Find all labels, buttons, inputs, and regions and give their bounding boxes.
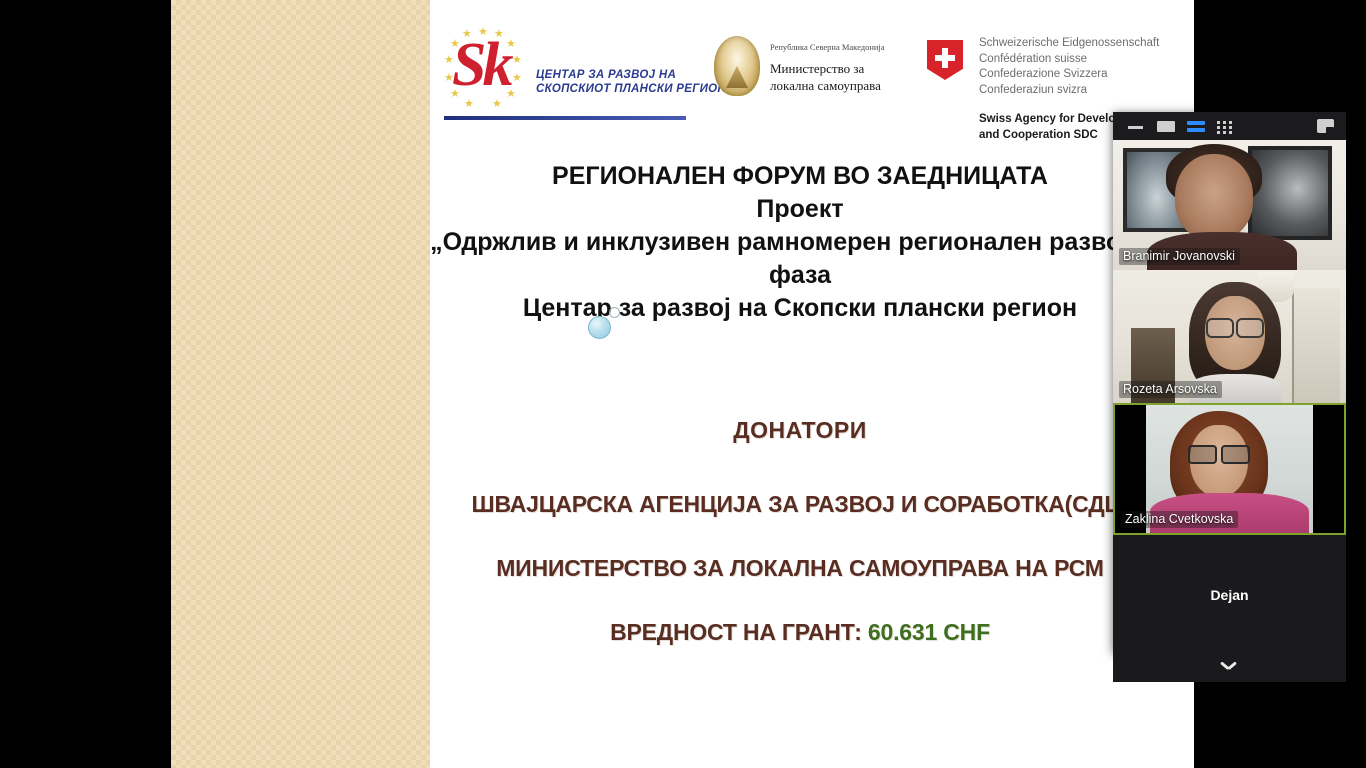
slide-title-line-1: РЕГИОНАЛЕН ФОРУМ ВО ЗАЕДНИЦАТА [430, 160, 1170, 193]
grant-value-row: ВРЕДНОСТ НА ГРАНТ: 60.631 CHF [430, 617, 1170, 647]
slide-title-line-2: Проект [430, 193, 1170, 226]
participant-head [1175, 154, 1253, 240]
logo-ministry-local-self-government: Република Северна Македонија Министерств… [714, 36, 874, 106]
grant-amount: 60.631 CHF [868, 619, 990, 645]
swiss-cross-icon [927, 40, 963, 80]
sk-logotype: Sk [452, 34, 509, 96]
video-panel-toolbar [1113, 112, 1346, 140]
donor-item-1: ШВАЈЦАРСКА АГЕНЦИЈА ЗА РАЗВОЈ И СОРАБОТК… [430, 489, 1170, 519]
swiss-name-de: Schweizerische Eidgenossenschaft [979, 36, 1159, 52]
macedonia-country-label: Република Северна Македонија [770, 42, 885, 52]
participant-glasses [1205, 318, 1265, 334]
cursor-ring-icon [609, 307, 620, 318]
slide-title-line-3: „Одржлив и инклузивен рамномерен региона… [430, 226, 1170, 292]
sk-logo-text-line2: СКОПСКИОТ ПЛАНСКИ РЕГИОН [536, 82, 726, 96]
sk-logo-underline [444, 116, 686, 120]
ministry-line-1: Министерство за [770, 60, 881, 77]
single-view-icon[interactable] [1157, 120, 1175, 133]
participant-name-label: Rozeta Arsovska [1119, 381, 1222, 398]
swiss-name-rm: Confederaziun svizra [979, 83, 1159, 99]
participant-tile-no-video[interactable]: Dejan [1113, 535, 1346, 655]
participant-tile[interactable]: Branimir Jovanovski [1113, 140, 1346, 270]
participant-glasses [1188, 445, 1250, 460]
sk-logo-text-line1: ЦЕНТАР ЗА РАЗВОЈ НА [536, 68, 726, 82]
wall-picture-right [1248, 146, 1332, 240]
logo-row: ★ ★ ★ ★ ★ ★ ★ ★ ★ ★ ★ ★ ★ Sk [430, 14, 1194, 134]
participant-name-label: Zaklina Cvetkovska [1121, 511, 1238, 528]
donors-heading: ДОНАТОРИ [430, 415, 1170, 445]
laser-pointer-dot [588, 316, 611, 339]
video-thumbnail-panel[interactable]: Branimir Jovanovski Rozeta Arsovska [1113, 112, 1346, 652]
macedonia-coat-of-arms-icon [714, 36, 760, 96]
gallery-view-icon[interactable] [1217, 120, 1233, 133]
participant-tile[interactable]: Rozeta Arsovska [1113, 270, 1346, 403]
swiss-name-it: Confederazione Svizzera [979, 67, 1159, 83]
slide-content: ★ ★ ★ ★ ★ ★ ★ ★ ★ ★ ★ ★ ★ Sk [430, 0, 1194, 768]
chevron-down-icon[interactable] [1221, 661, 1236, 670]
donors-block: ДОНАТОРИ ШВАЈЦАРСКА АГЕНЦИЈА ЗА РАЗВОЈ И… [430, 415, 1170, 647]
grant-label: ВРЕДНОСТ НА ГРАНТ: [610, 619, 862, 645]
participant-tile-active-speaker[interactable]: Zaklina Cvetkovska [1113, 403, 1346, 535]
donor-item-2: МИНИСТЕРСТВО ЗА ЛОКАЛНА САМОУПРАВА НА РС… [430, 553, 1170, 583]
swiss-name-fr: Confédération suisse [979, 52, 1159, 68]
sk-logo-text: ЦЕНТАР ЗА РАЗВОЈ НА СКОПСКИОТ ПЛАНСКИ РЕ… [536, 68, 726, 96]
speaker-view-icon[interactable] [1187, 120, 1205, 133]
macedonia-ministry-label: Министерство за локална самоуправа [770, 60, 881, 94]
screen-share-view: ★ ★ ★ ★ ★ ★ ★ ★ ★ ★ ★ ★ ★ Sk [0, 0, 1366, 768]
ministry-line-2: локална самоуправа [770, 77, 881, 94]
shared-slide: ★ ★ ★ ★ ★ ★ ★ ★ ★ ★ ★ ★ ★ Sk [171, 0, 1194, 768]
participant-name-label: Branimir Jovanovski [1119, 248, 1240, 265]
slide-title-line-4: Центар за развој на Скопски плански реги… [430, 292, 1170, 325]
minimize-icon[interactable] [1127, 120, 1145, 133]
slide-decorative-band [171, 0, 430, 768]
background-cabinet [1292, 288, 1340, 403]
logo-skopje-planning-region: ★ ★ ★ ★ ★ ★ ★ ★ ★ ★ ★ ★ ★ Sk [444, 28, 692, 134]
video-panel-footer [1113, 655, 1346, 682]
slide-title-block: РЕГИОНАЛЕН ФОРУМ ВО ЗАЕДНИЦАТА Проект „О… [430, 160, 1170, 325]
swiss-confederation-names: Schweizerische Eidgenossenschaft Confédé… [979, 36, 1159, 98]
participant-name-label: Dejan [1113, 587, 1346, 603]
picture-in-picture-icon[interactable] [1317, 119, 1334, 134]
sk-emblem-icon: ★ ★ ★ ★ ★ ★ ★ ★ ★ ★ ★ ★ ★ Sk [444, 28, 536, 112]
